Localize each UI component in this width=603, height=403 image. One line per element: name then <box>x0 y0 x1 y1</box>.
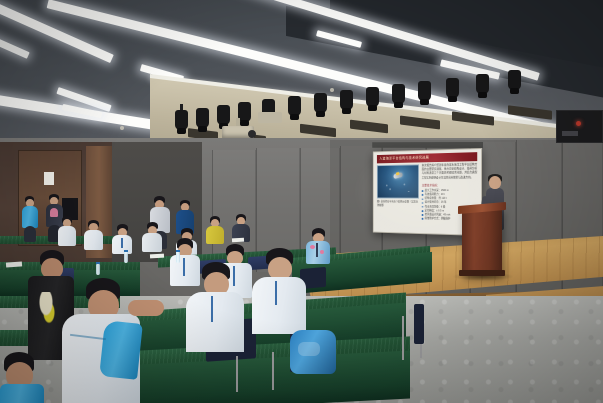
track-spotlight-icon[interactable] <box>175 110 188 130</box>
door-notice-sheet <box>44 172 54 185</box>
linear-fluorescent-strip-icon <box>0 36 30 59</box>
student-in-school-uniform <box>112 224 132 254</box>
slide-title-text: 人造海洋平台结构与技术研究进展 <box>379 155 429 161</box>
student-in-school-uniform <box>252 248 306 334</box>
slide-paragraph: 本次报告将介绍近年来在深水海洋工程平台结构方面的主要研究进展，重点讨论结构设计、… <box>422 163 477 180</box>
track-spotlight-icon[interactable] <box>366 87 379 107</box>
power-indicator <box>576 121 581 126</box>
track-spotlight-icon[interactable] <box>418 81 431 101</box>
bubble-icon <box>408 191 409 192</box>
track-spotlight-icon[interactable] <box>196 108 209 128</box>
slide-photo <box>377 164 419 198</box>
audience-member <box>306 228 330 264</box>
handout-paper <box>232 238 244 243</box>
lecture-hall-photo: 人造海洋平台结构与技术研究进展 图1 深海作业平台水下结构示意图（实验水池拍摄）… <box>0 0 603 403</box>
chair-leg <box>402 316 404 360</box>
track-spotlight-icon[interactable] <box>476 74 489 94</box>
projector-lens-icon <box>248 130 256 138</box>
audience-member <box>206 216 224 244</box>
slide-photo-caption: 图1 深海作业平台水下结构示意图（实验水池拍摄） <box>377 200 419 208</box>
speaker-vent <box>562 131 578 136</box>
water-bottle <box>124 252 128 263</box>
student-in-school-uniform <box>186 262 244 352</box>
chair-leg <box>236 356 238 392</box>
track-spotlight-icon[interactable] <box>314 93 327 113</box>
track-spotlight-icon[interactable] <box>288 96 301 116</box>
slide-left-column: 图1 深海作业平台水下结构示意图（实验水池拍摄） <box>377 164 419 230</box>
track-spotlight-icon[interactable] <box>508 70 521 90</box>
track-spotlight-icon[interactable] <box>392 84 405 104</box>
track-spotlight-icon[interactable] <box>446 78 459 98</box>
wall-speaker-cabinet <box>556 110 603 143</box>
audience-chair[interactable] <box>414 304 424 344</box>
bubble-icon <box>390 189 391 190</box>
track-spotlight-icon[interactable] <box>340 90 353 110</box>
water-bottle <box>96 264 100 275</box>
smoke-detector-icon <box>120 126 124 130</box>
smoke-detector-icon <box>330 88 334 92</box>
student-hand <box>128 300 164 326</box>
audience-member <box>22 196 38 242</box>
audience-member <box>0 352 44 403</box>
student-in-school-uniform <box>142 222 162 252</box>
speaker-podium <box>462 208 502 276</box>
bubble-icon <box>386 185 388 187</box>
student-in-school-uniform <box>84 220 103 250</box>
student-backpack <box>290 330 336 380</box>
chair-leg <box>272 352 274 390</box>
podium-base <box>459 270 505 276</box>
slide-bullets-heading: 主要技术指标： <box>422 183 477 187</box>
water-bottle <box>176 252 180 263</box>
student-in-school-uniform <box>62 278 140 403</box>
audience-member <box>58 216 76 246</box>
track-spotlight-icon[interactable] <box>217 105 230 125</box>
presenter-head <box>489 176 501 189</box>
screen-top-bar <box>372 142 483 148</box>
slide-title-bar: 人造海洋平台结构与技术研究进展 <box>377 152 477 163</box>
handout-paper <box>150 254 164 259</box>
bubble-icon <box>403 183 405 185</box>
ceiling-projector-secondary <box>258 112 282 123</box>
